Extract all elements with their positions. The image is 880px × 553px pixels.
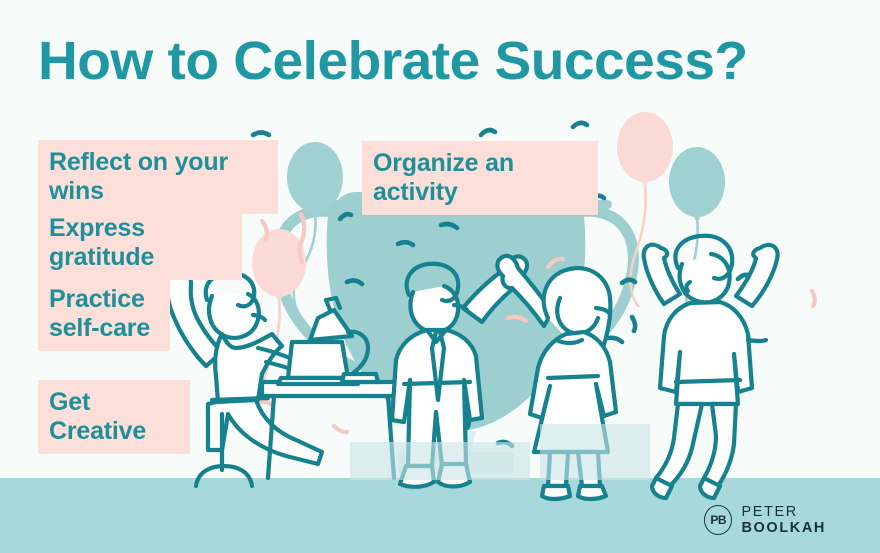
infographic-canvas: .ln { fill:#ffffff; stroke:#17828f; stro… — [0, 0, 880, 553]
brand-name-first: PETER — [741, 504, 797, 520]
figure-jumping — [644, 236, 778, 498]
brand-name: PETER BOOLKAH — [741, 504, 880, 536]
label-chip-creative: Get Creative — [38, 380, 190, 454]
brand-name-last: BOOLKAH — [741, 520, 826, 536]
pb-monogram-icon: PB — [704, 505, 732, 535]
brand-logo: PB PETER BOOLKAH — [704, 504, 880, 536]
label-chip-gratitude: Express gratitude — [38, 206, 242, 280]
page-title: How to Celebrate Success? — [38, 30, 748, 92]
background-step-shapes — [350, 424, 650, 480]
label-chip-reflect: Reflect on your wins — [38, 140, 278, 214]
label-chip-self-care: Practice self-care — [38, 277, 170, 351]
label-chip-organize: Organize an activity — [362, 141, 598, 215]
